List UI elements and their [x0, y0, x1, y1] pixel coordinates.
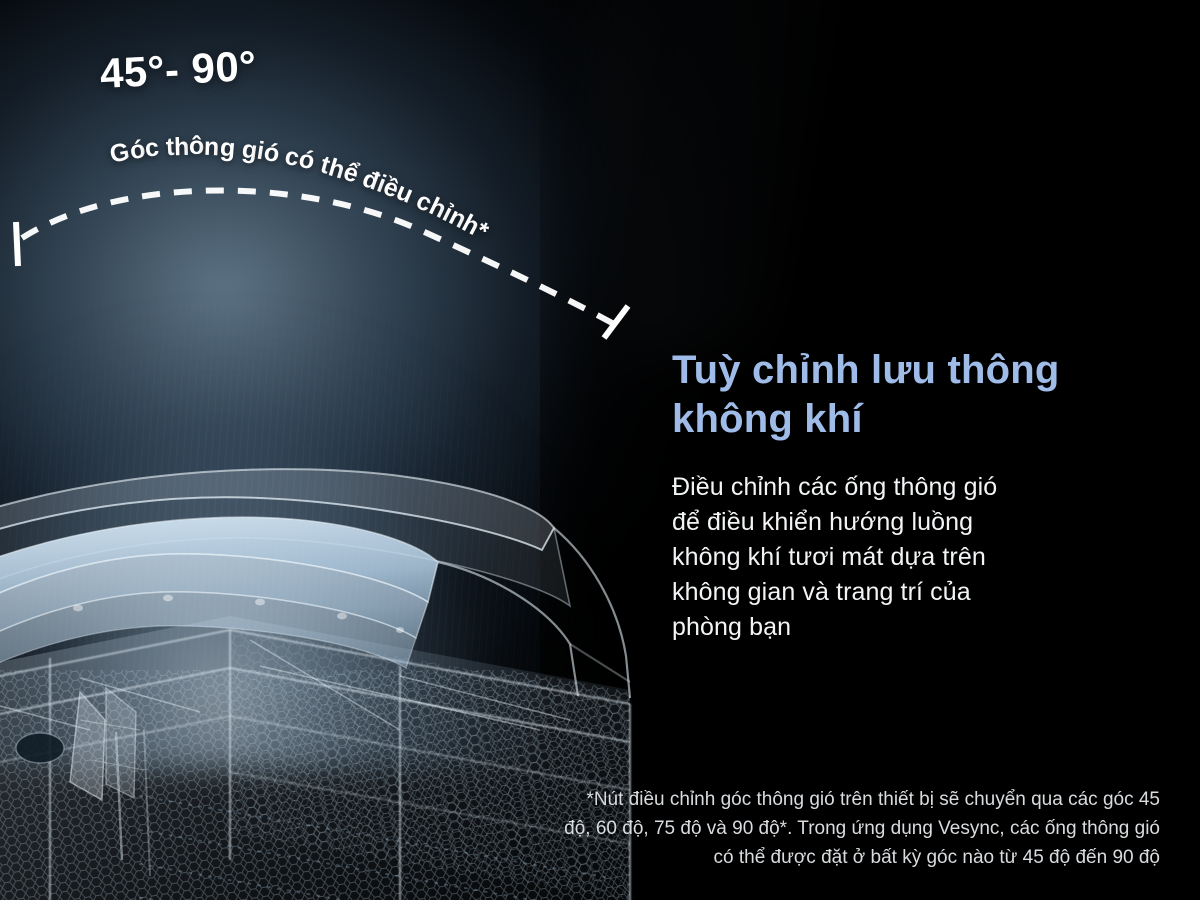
footnote-line-3: có thể được đặt ở bất kỳ góc nào từ 45 đ… [300, 844, 1160, 873]
angle-arc [22, 190, 614, 324]
headline-line-2: không khí [672, 397, 863, 441]
footnote: *Nút điều chỉnh góc thông gió trên thiết… [300, 786, 1160, 873]
footnote-line-1: *Nút điều chỉnh góc thông gió trên thiết… [300, 786, 1160, 815]
angle-range-label: 45°- 90° [99, 42, 258, 98]
body-line: phòng bạn [672, 613, 791, 641]
feature-description: Điều chỉnh các ống thông gió để điều khi… [672, 470, 1172, 645]
body-line: để điều khiển hướng luồng [672, 508, 973, 536]
feature-copy-block: Tuỳ chỉnh lưu thông không khí Điều chỉnh… [672, 346, 1172, 645]
marketing-slide: 45°- 90° Góc thông gió có thể điều chỉnh… [0, 0, 1200, 900]
body-line: không khí tươi mát dựa trên [672, 543, 986, 571]
footnote-line-2: độ, 60 độ, 75 độ và 90 độ*. Trong ứng dụ… [300, 815, 1160, 844]
headline-line-1: Tuỳ chỉnh lưu thông [672, 348, 1060, 392]
page-title: Tuỳ chỉnh lưu thông không khí [672, 346, 1172, 444]
body-line: không gian và trang trí của [672, 578, 971, 606]
body-line: Điều chỉnh các ống thông gió [672, 473, 997, 501]
arc-tick-left [16, 222, 18, 266]
